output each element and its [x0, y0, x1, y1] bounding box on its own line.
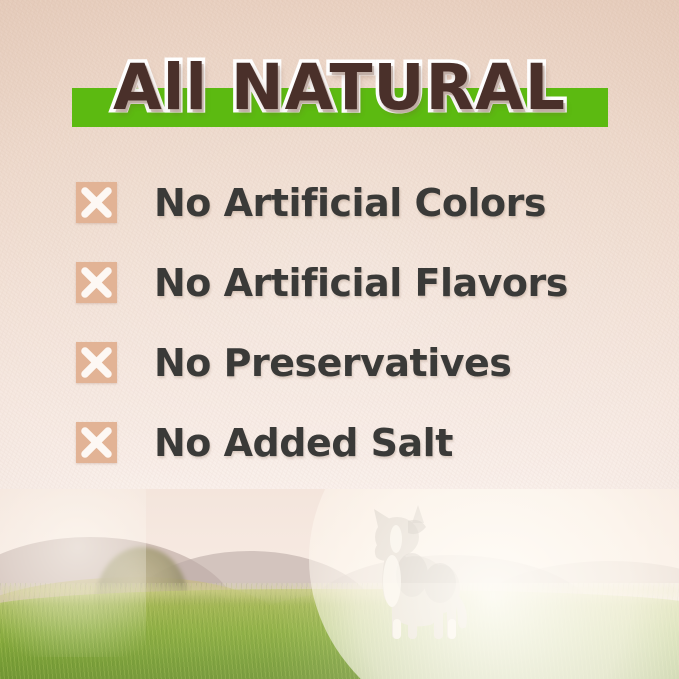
x-mark-glyph — [76, 342, 117, 383]
landscape-photo — [0, 489, 679, 679]
claim-label: No Preservatives — [154, 339, 511, 387]
claim-label: No Artificial Flavors — [154, 259, 568, 307]
x-mark-glyph — [76, 262, 117, 303]
headline-banner: All NATURAL — [0, 52, 679, 134]
x-mark-icon — [76, 422, 117, 463]
x-mark-glyph — [76, 182, 117, 223]
claim-label: No Artificial Colors — [154, 179, 546, 227]
x-mark-glyph — [76, 422, 117, 463]
x-mark-icon — [76, 262, 117, 303]
sun-flare — [309, 489, 679, 679]
headline-title: All NATURAL — [0, 52, 679, 124]
claim-row: No Artificial Colors — [76, 182, 636, 262]
claim-row: No Preservatives — [76, 342, 636, 422]
claims-list: No Artificial Colors No Artificial Flavo… — [76, 182, 636, 502]
x-mark-icon — [76, 342, 117, 383]
claim-row: No Artificial Flavors — [76, 262, 636, 342]
claim-label: No Added Salt — [154, 419, 453, 467]
x-mark-icon — [76, 182, 117, 223]
all-natural-infographic: All NATURAL No Artificial Colors No Arti… — [0, 0, 679, 679]
